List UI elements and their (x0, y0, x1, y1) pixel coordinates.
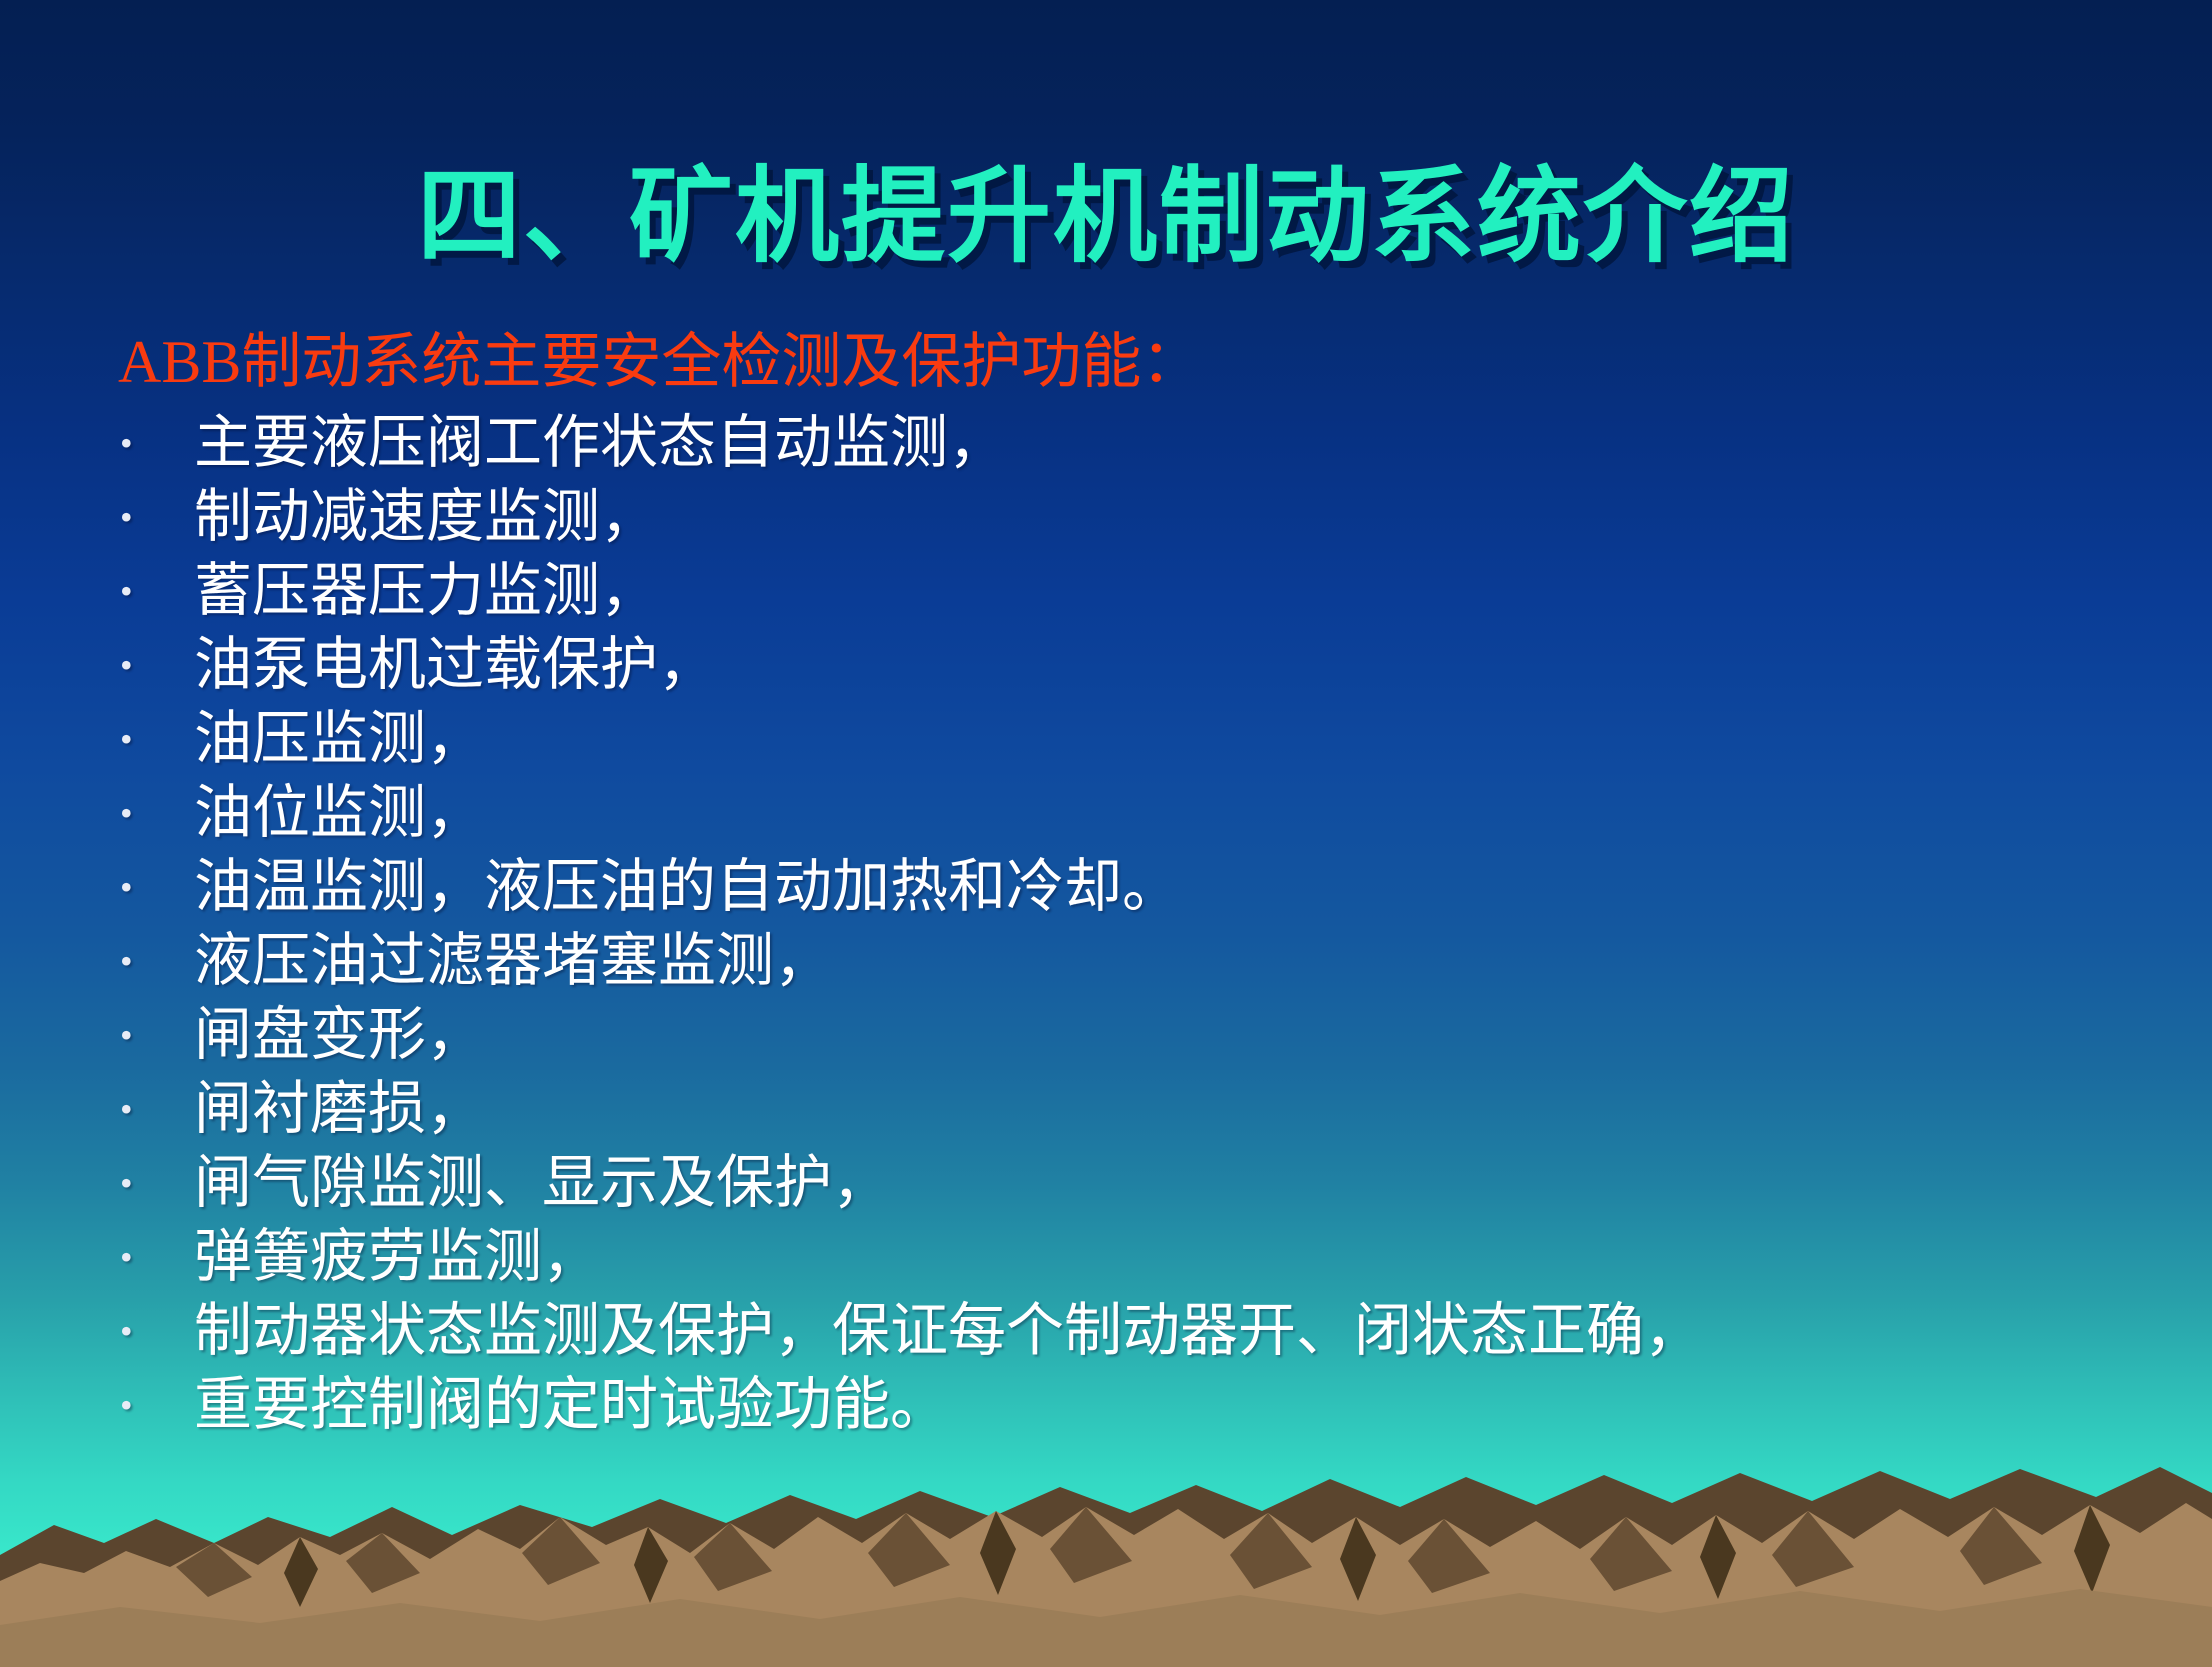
mountain-shadow-facets (176, 1507, 2042, 1597)
bullet-list: • 主要液压阀工作状态自动监测， • 制动减速度监测， • 蓄压器压力监测， •… (108, 406, 2108, 1442)
mountain-back-ridge (0, 1467, 2212, 1667)
list-item-label: 重要控制阀的定时试验功能。 (194, 1368, 948, 1442)
list-item: • 闸衬磨损， (108, 1072, 2108, 1146)
list-item-label: 液压油过滤器堵塞监测， (194, 924, 832, 998)
page-title: 四、矿机提升机制动系统介绍 (417, 166, 1795, 270)
list-item: • 油温监测，液压油的自动加热和冷却。 (108, 850, 2108, 924)
list-item-label: 制动减速度监测， (194, 480, 658, 554)
bullet-dot-icon: • (108, 776, 194, 850)
list-item-label: 制动器状态监测及保护，保证每个制动器开、闭状态正确， (194, 1294, 1702, 1368)
list-item: • 弹簧疲劳监测， (108, 1220, 2108, 1294)
bullet-dot-icon: • (108, 1368, 194, 1442)
bullet-dot-icon: • (108, 480, 194, 554)
list-item: • 闸气隙监测、显示及保护， (108, 1146, 2108, 1220)
list-item: • 液压油过滤器堵塞监测， (108, 924, 2108, 998)
presentation-slide: 四、矿机提升机制动系统介绍 ABB制动系统主要安全检测及保护功能： • 主要液压… (0, 0, 2212, 1667)
list-item-label: 油温监测，液压油的自动加热和冷却。 (194, 850, 1180, 924)
bullet-dot-icon: • (108, 998, 194, 1072)
mountain-front-slope (0, 1589, 2212, 1667)
list-item-label: 主要液压阀工作状态自动监测， (194, 406, 1006, 480)
list-item-label: 油泵电机过载保护， (194, 628, 716, 702)
list-item: • 主要液压阀工作状态自动监测， (108, 406, 2108, 480)
list-item-label: 油位监测， (194, 776, 484, 850)
bullet-dot-icon: • (108, 924, 194, 998)
bullet-dot-icon: • (108, 702, 194, 776)
bullet-dot-icon: • (108, 1220, 194, 1294)
bullet-dot-icon: • (108, 1294, 194, 1368)
title-area: 四、矿机提升机制动系统介绍 (0, 96, 2212, 339)
bullet-dot-icon: • (108, 628, 194, 702)
list-item-label: 蓄压器压力监测， (194, 554, 658, 628)
bullet-dot-icon: • (108, 554, 194, 628)
list-item-label: 弹簧疲劳监测， (194, 1220, 600, 1294)
list-item: • 闸盘变形， (108, 998, 2108, 1072)
bullet-dot-icon: • (108, 406, 194, 480)
list-item: • 油位监测， (108, 776, 2108, 850)
list-item: • 制动减速度监测， (108, 480, 2108, 554)
mountain-main-ridge (0, 1503, 2212, 1667)
list-item-label: 油压监测， (194, 702, 484, 776)
list-item: • 蓄压器压力监测， (108, 554, 2108, 628)
list-item: • 油压监测， (108, 702, 2108, 776)
list-item-label: 闸衬磨损， (194, 1072, 484, 1146)
section-heading: ABB制动系统主要安全检测及保护功能： (118, 332, 2108, 392)
list-item-label: 闸气隙监测、显示及保护， (194, 1146, 890, 1220)
list-item: • 油泵电机过载保护， (108, 628, 2108, 702)
bullet-dot-icon: • (108, 850, 194, 924)
list-item: • 制动器状态监测及保护，保证每个制动器开、闭状态正确， (108, 1294, 2108, 1368)
bullet-dot-icon: • (108, 1146, 194, 1220)
slide-body: ABB制动系统主要安全检测及保护功能： • 主要液压阀工作状态自动监测， • 制… (108, 332, 2108, 1442)
list-item-label: 闸盘变形， (194, 998, 484, 1072)
bullet-dot-icon: • (108, 1072, 194, 1146)
list-item: • 重要控制阀的定时试验功能。 (108, 1368, 2108, 1442)
mountain-crevices (284, 1505, 2110, 1607)
